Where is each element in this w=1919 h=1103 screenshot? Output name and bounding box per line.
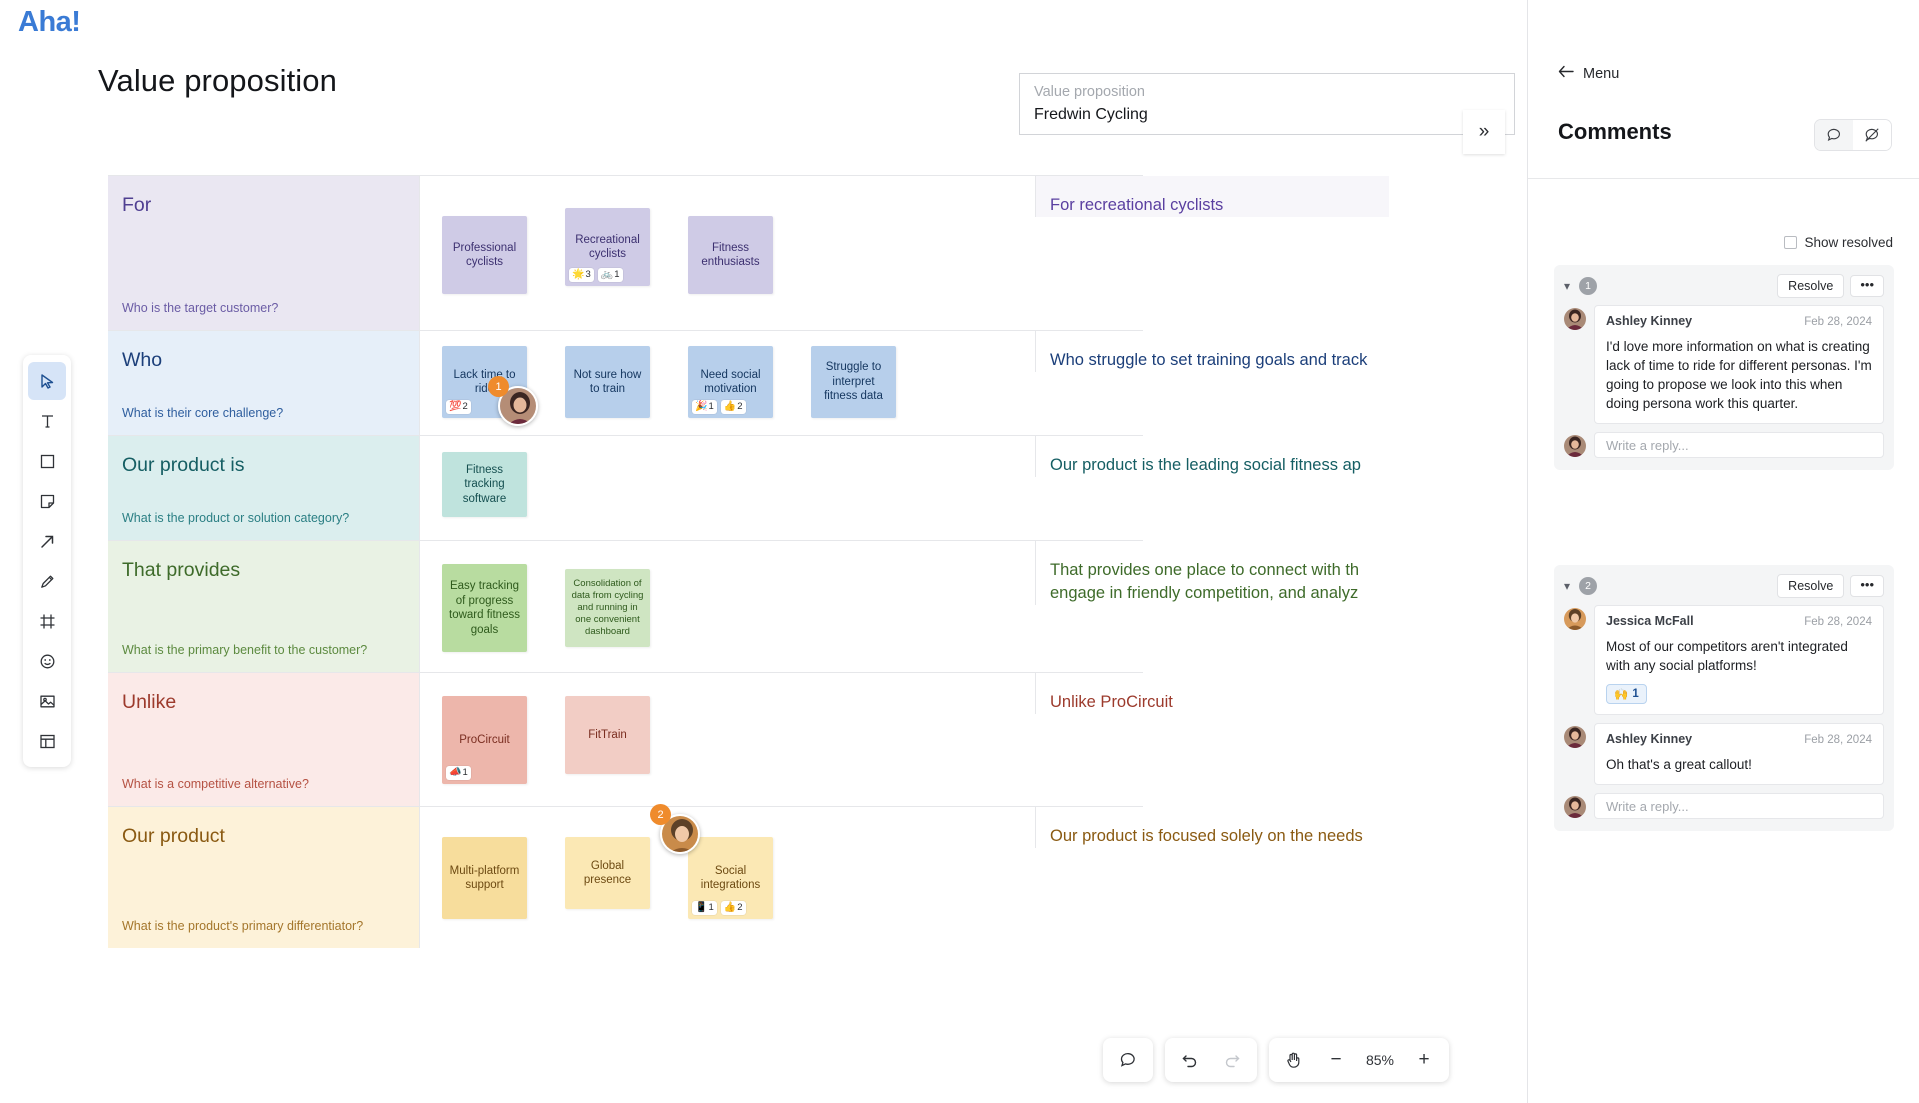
avatar xyxy=(1564,608,1586,630)
undo-icon[interactable] xyxy=(1169,1041,1211,1079)
note-slot: Not sure how to train xyxy=(543,331,666,418)
row-title: Our product is xyxy=(122,454,405,477)
comment-meta: Jessica McFall Feb 28, 2024 xyxy=(1606,614,1872,628)
reaction-count: 3 xyxy=(585,269,590,281)
board-row-our-product-is: Our product is What is the product or so… xyxy=(108,436,1143,541)
row-statement[interactable]: Unlike ProCircuit xyxy=(1035,673,1389,714)
row-statement[interactable]: Who struggle to set training goals and t… xyxy=(1035,331,1389,372)
reaction-emoji: 🎉 xyxy=(695,401,707,413)
row-statement[interactable]: Our product is the leading social fitnes… xyxy=(1035,436,1389,477)
select-tool[interactable] xyxy=(28,362,66,400)
template-tool[interactable] xyxy=(28,722,66,760)
reply-input[interactable]: Write a reply... xyxy=(1594,793,1884,819)
resolve-button[interactable]: Resolve xyxy=(1777,274,1844,298)
row-label-that-provides: That provides What is the primary benefi… xyxy=(108,541,420,672)
row-cells: Fitness tracking software Our product is… xyxy=(420,436,1389,540)
arrow-left-icon xyxy=(1558,65,1574,82)
reaction-badge[interactable]: 🌟3 xyxy=(569,268,594,282)
comment-body: Most of our competitors aren't integrate… xyxy=(1606,637,1872,675)
reaction-emoji: 👍 xyxy=(724,401,736,413)
aha-whiteboard-app: Aha! Value proposition Value proposition… xyxy=(0,0,1919,1103)
row-statement[interactable]: Our product is focused solely on the nee… xyxy=(1035,807,1389,848)
comment-icon[interactable] xyxy=(1107,1041,1149,1079)
reaction-count: 1 xyxy=(614,269,619,281)
sticky-note-text: Social integrations xyxy=(694,847,767,909)
hide-comments-toggle[interactable] xyxy=(1853,120,1891,150)
comment-date: Feb 28, 2024 xyxy=(1804,734,1872,746)
redo-icon[interactable] xyxy=(1211,1041,1253,1079)
reaction-badge[interactable]: 🎉1 xyxy=(692,400,717,414)
comment-author: Ashley Kinney xyxy=(1606,314,1692,328)
row-cells: Lack time to ride 💯2 1 Not sure xyxy=(420,331,1389,435)
avatar xyxy=(1564,726,1586,748)
reaction-count: 2 xyxy=(737,902,742,914)
sticky-note[interactable]: Global presence xyxy=(565,837,650,909)
row-title: That provides xyxy=(122,559,405,582)
resolve-button[interactable]: Resolve xyxy=(1777,574,1844,598)
note-slot: Easy tracking of progress toward fitness… xyxy=(420,541,543,652)
comment-thread: ▾ 1 Resolve ••• Ashley Kinney Feb 28, 20… xyxy=(1554,265,1894,470)
board-row-our-product: Our product What is the product's primar… xyxy=(108,807,1143,948)
sticky-note[interactable]: Recreational cyclists 🌟3 🚲1 xyxy=(565,208,650,286)
undo-redo-group xyxy=(1165,1038,1257,1082)
row-statement[interactable]: For recreational cyclists xyxy=(1035,176,1389,217)
note-slot: Consolidation of data from cycling and r… xyxy=(543,541,666,647)
comment-bubble[interactable]: Jessica McFall Feb 28, 2024 Most of our … xyxy=(1594,605,1884,715)
menu-label: Menu xyxy=(1583,66,1619,82)
comment-body: Oh that's a great callout! xyxy=(1606,755,1872,774)
sticky-note[interactable]: Fitness tracking software xyxy=(442,452,527,517)
comment-reaction-badge[interactable]: 🙌 1 xyxy=(1606,684,1647,704)
reaction-emoji: 📣 xyxy=(449,767,461,779)
show-resolved-label: Show resolved xyxy=(1804,235,1893,250)
frame-tool[interactable] xyxy=(28,602,66,640)
reply-row: Write a reply... xyxy=(1564,793,1884,819)
sticky-note-text: Consolidation of data from cycling and r… xyxy=(571,578,644,638)
comment-bubble[interactable]: Ashley Kinney Feb 28, 2024 Oh that's a g… xyxy=(1594,723,1884,785)
comment-group xyxy=(1103,1038,1153,1082)
row-cells: Easy tracking of progress toward fitness… xyxy=(420,541,1389,672)
row-label-our-product: Our product What is the product's primar… xyxy=(108,807,420,948)
zoom-out-button[interactable]: − xyxy=(1315,1041,1357,1079)
row-statement-text: Unlike ProCircuit xyxy=(1050,693,1173,711)
avatar xyxy=(1564,796,1586,818)
reaction-emoji: 🚲 xyxy=(601,269,613,281)
reaction-count: 1 xyxy=(1632,688,1638,700)
reaction-count: 1 xyxy=(708,902,713,914)
sticky-note-text: Professional cyclists xyxy=(448,226,521,284)
board-row-who: Who What is their core challenge? Lack t… xyxy=(108,331,1143,436)
checkbox-icon xyxy=(1784,236,1797,249)
sticky-note[interactable]: ProCircuit 📣1 xyxy=(442,696,527,784)
reaction-list: 💯2 xyxy=(446,400,471,414)
shape-tool[interactable] xyxy=(28,442,66,480)
cursor-badge: 2 xyxy=(650,804,671,825)
row-title: For xyxy=(122,194,405,217)
aha-logo[interactable]: Aha! xyxy=(18,6,80,39)
value-proposition-value[interactable]: Fredwin Cycling xyxy=(1034,103,1500,127)
sticky-note-text: Fitness enthusiasts xyxy=(694,226,767,284)
sticky-note-text: Multi-platform support xyxy=(448,847,521,909)
chevron-down-icon[interactable]: ▾ xyxy=(1564,279,1570,293)
reaction-emoji: 📱 xyxy=(695,902,707,914)
reaction-badge[interactable]: 👍2 xyxy=(721,901,746,915)
expand-panel-button[interactable]: » xyxy=(1463,110,1505,154)
sticky-note[interactable]: Fitness enthusiasts xyxy=(688,216,773,294)
reaction-emoji: 🙌 xyxy=(1614,687,1628,701)
collaborator-cursor: 2 xyxy=(660,814,700,854)
comment-author: Jessica McFall xyxy=(1606,614,1694,628)
image-tool[interactable] xyxy=(28,682,66,720)
show-resolved-checkbox[interactable]: Show resolved xyxy=(1784,235,1893,250)
row-label-unlike: Unlike What is a competitive alternative… xyxy=(108,673,420,806)
thread-more-button[interactable]: ••• xyxy=(1850,275,1884,297)
reaction-emoji: 💯 xyxy=(449,401,461,413)
comments-visibility-toggle xyxy=(1815,120,1891,150)
sticky-note-text: ProCircuit xyxy=(448,706,521,774)
bottom-toolbar: − 85% + xyxy=(1103,1038,1449,1082)
reaction-badge[interactable]: 👍2 xyxy=(721,400,746,414)
row-question: Who is the target customer? xyxy=(122,301,278,315)
row-statement[interactable]: That provides one place to connect with … xyxy=(1035,541,1389,605)
show-comments-toggle[interactable] xyxy=(1815,120,1853,150)
sticky-note-text: Global presence xyxy=(571,847,644,899)
thread-count-badge: 2 xyxy=(1579,577,1597,595)
emoji-tool[interactable] xyxy=(28,642,66,680)
note-slot: Fitness enthusiasts xyxy=(666,176,789,294)
reaction-badge[interactable]: 📱1 xyxy=(692,901,717,915)
page-title-comments: Comments xyxy=(1558,119,1672,145)
board-row-unlike: Unlike What is a competitive alternative… xyxy=(108,673,1143,807)
sticky-note[interactable]: Multi-platform support xyxy=(442,837,527,919)
board-row-for: For Who is the target customer? Professi… xyxy=(108,175,1143,331)
comment-message: Jessica McFall Feb 28, 2024 Most of our … xyxy=(1564,605,1884,715)
row-cells: Multi-platform support Global presence S… xyxy=(420,807,1389,948)
reaction-list: 🌟3 🚲1 xyxy=(569,268,623,282)
avatar xyxy=(1564,435,1586,457)
note-slot: FitTrain xyxy=(543,673,666,774)
row-statement-text: Our product is focused solely on the nee… xyxy=(1050,827,1363,845)
menu-back-button[interactable]: Menu xyxy=(1558,65,1619,82)
zoom-group: − 85% + xyxy=(1269,1038,1449,1082)
text-tool[interactable] xyxy=(28,402,66,440)
sticky-note-text: Easy tracking of progress toward fitness… xyxy=(448,574,521,642)
zoom-level-label: 85% xyxy=(1357,1052,1403,1068)
note-slot: Lack time to ride 💯2 1 xyxy=(420,331,543,418)
comment-date: Feb 28, 2024 xyxy=(1804,316,1872,328)
sticky-note[interactable]: Not sure how to train xyxy=(565,346,650,418)
sticky-note-text: Fitness tracking software xyxy=(448,462,521,507)
row-statement-text: For recreational cyclists xyxy=(1050,196,1223,214)
thread-header: ▾ 2 Resolve ••• xyxy=(1564,573,1884,599)
note-slot: Fitness tracking software xyxy=(420,436,543,517)
thread-more-button[interactable]: ••• xyxy=(1850,575,1884,597)
note-slot: Global presence xyxy=(543,807,666,909)
note-slot: Social integrations 📱1 👍2 2 xyxy=(666,807,789,919)
row-statement-text: Our product is the leading social fitnes… xyxy=(1050,456,1361,474)
reaction-badge[interactable]: 🚲1 xyxy=(598,268,623,282)
collaborator-cursor: 1 xyxy=(498,386,538,426)
sticky-note-text: Struggle to interpret fitness data xyxy=(817,356,890,408)
pen-tool[interactable] xyxy=(28,562,66,600)
reaction-badge[interactable]: 💯2 xyxy=(446,400,471,414)
cursor-badge: 1 xyxy=(488,376,509,397)
reaction-emoji: 👍 xyxy=(724,902,736,914)
comment-date: Feb 28, 2024 xyxy=(1804,616,1872,628)
arrow-tool[interactable] xyxy=(28,522,66,560)
comments-panel: Menu Comments Show resolved ▾ 1 Resolve … xyxy=(1527,0,1919,1103)
reaction-count: 2 xyxy=(737,401,742,413)
reaction-list: 🎉1 👍2 xyxy=(692,400,746,414)
tool-rail xyxy=(23,355,71,767)
comment-thread: ▾ 2 Resolve ••• Jessica McFall Feb 28, 2… xyxy=(1554,565,1894,831)
value-proposition-label: Value proposition xyxy=(1034,82,1500,102)
sticky-note[interactable]: FitTrain xyxy=(565,696,650,774)
sticky-note[interactable]: Struggle to interpret fitness data xyxy=(811,346,896,418)
reaction-count: 2 xyxy=(462,401,467,413)
sticky-note-tool[interactable] xyxy=(28,482,66,520)
reaction-count: 1 xyxy=(462,767,467,779)
chevron-down-icon[interactable]: ▾ xyxy=(1564,579,1570,593)
row-label-our-product-is: Our product is What is the product or so… xyxy=(108,436,420,540)
row-title: Unlike xyxy=(122,691,405,714)
sticky-note[interactable]: Social integrations 📱1 👍2 xyxy=(688,837,773,919)
comment-message: Ashley Kinney Feb 28, 2024 I'd love more… xyxy=(1564,305,1884,424)
zoom-in-button[interactable]: + xyxy=(1403,1041,1445,1079)
sticky-note[interactable]: Need social motivation 🎉1 👍2 xyxy=(688,346,773,418)
value-proposition-board: For Who is the target customer? Professi… xyxy=(108,175,1143,1018)
note-slot: Struggle to interpret fitness data xyxy=(789,331,912,418)
row-label-who: Who What is their core challenge? xyxy=(108,331,420,435)
thread-count-badge: 1 xyxy=(1579,277,1597,295)
note-slot: Professional cyclists xyxy=(420,176,543,294)
comment-bubble[interactable]: Ashley Kinney Feb 28, 2024 I'd love more… xyxy=(1594,305,1884,424)
note-slot: Recreational cyclists 🌟3 🚲1 xyxy=(543,176,666,286)
board-row-that-provides: That provides What is the primary benefi… xyxy=(108,541,1143,673)
thread-header: ▾ 1 Resolve ••• xyxy=(1564,273,1884,299)
sticky-note[interactable]: Easy tracking of progress toward fitness… xyxy=(442,564,527,652)
reply-input[interactable]: Write a reply... xyxy=(1594,432,1884,458)
reaction-emoji: 🌟 xyxy=(572,269,584,281)
row-question: What is a competitive alternative? xyxy=(122,777,309,791)
value-proposition-field[interactable]: Value proposition Fredwin Cycling xyxy=(1019,73,1515,135)
reaction-count: 1 xyxy=(708,401,713,413)
reaction-list: 📱1 👍2 xyxy=(692,901,746,915)
row-question: What is the primary benefit to the custo… xyxy=(122,643,367,657)
avatar xyxy=(1564,308,1586,330)
sticky-note[interactable]: Consolidation of data from cycling and r… xyxy=(565,569,650,647)
note-slot: Need social motivation 🎉1 👍2 xyxy=(666,331,789,418)
row-question: What is the product or solution category… xyxy=(122,511,349,525)
sticky-note[interactable]: Professional cyclists xyxy=(442,216,527,294)
page-title: Value proposition xyxy=(98,63,337,99)
row-question: What is their core challenge? xyxy=(122,406,283,420)
row-question: What is the product's primary differenti… xyxy=(122,919,363,933)
row-title: Our product xyxy=(122,825,405,848)
reaction-badge[interactable]: 📣1 xyxy=(446,766,471,780)
comment-message: Ashley Kinney Feb 28, 2024 Oh that's a g… xyxy=(1564,723,1884,785)
note-slot: ProCircuit 📣1 xyxy=(420,673,543,784)
note-slot: Multi-platform support xyxy=(420,807,543,919)
sticky-note-text: FitTrain xyxy=(571,706,644,764)
comment-body: I'd love more information on what is cre… xyxy=(1606,337,1872,413)
reply-row: Write a reply... xyxy=(1564,432,1884,458)
comment-meta: Ashley Kinney Feb 28, 2024 xyxy=(1606,732,1872,746)
reaction-list: 📣1 xyxy=(446,766,471,780)
panel-divider xyxy=(1528,178,1919,179)
row-cells: ProCircuit 📣1 FitTrain Unlike ProCircuit xyxy=(420,673,1389,806)
comment-meta: Ashley Kinney Feb 28, 2024 xyxy=(1606,314,1872,328)
row-title: Who xyxy=(122,349,405,372)
comment-author: Ashley Kinney xyxy=(1606,732,1692,746)
row-cells: Professional cyclists Recreational cycli… xyxy=(420,176,1389,330)
sticky-note-text: Not sure how to train xyxy=(571,356,644,408)
row-label-for: For Who is the target customer? xyxy=(108,176,420,330)
hand-icon[interactable] xyxy=(1273,1041,1315,1079)
row-statement-text: Who struggle to set training goals and t… xyxy=(1050,351,1367,369)
row-statement-text: That provides one place to connect with … xyxy=(1050,561,1359,602)
